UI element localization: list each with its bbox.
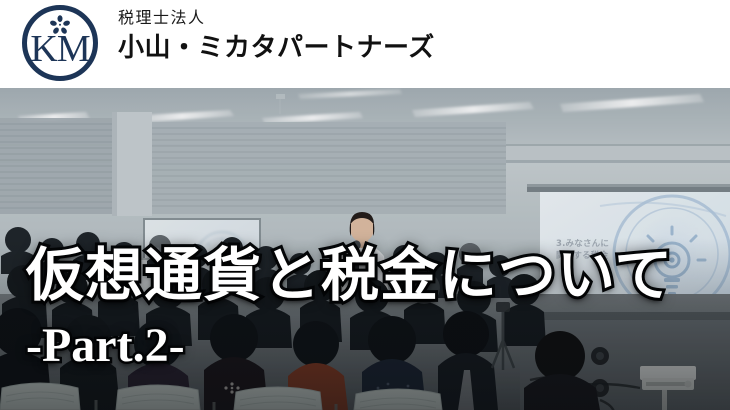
video-thumbnail: KM 税理士法人 小山・ミカタパートナーズ bbox=[0, 0, 730, 410]
brand-qualifier: 税理士法人 bbox=[118, 8, 435, 30]
brand-logo: KM bbox=[22, 5, 98, 81]
logo-monogram: KM bbox=[22, 29, 98, 69]
seminar-photo: 3.みなさんに 関係する税金 3.みなさんに 関係する税金 bbox=[0, 88, 730, 410]
brand-title: 小山・ミカタパートナーズ bbox=[118, 31, 435, 65]
brand-name-block: 税理士法人 小山・ミカタパートナーズ bbox=[118, 8, 435, 65]
slide-heading-left: 3.みなさんに 関係する税金 bbox=[156, 248, 188, 262]
seminar-photo-graphic bbox=[0, 88, 730, 410]
header-bar: KM 税理士法人 小山・ミカタパートナーズ bbox=[0, 0, 730, 88]
slide-heading-right: 3.みなさんに 関係する税金 bbox=[556, 238, 609, 262]
